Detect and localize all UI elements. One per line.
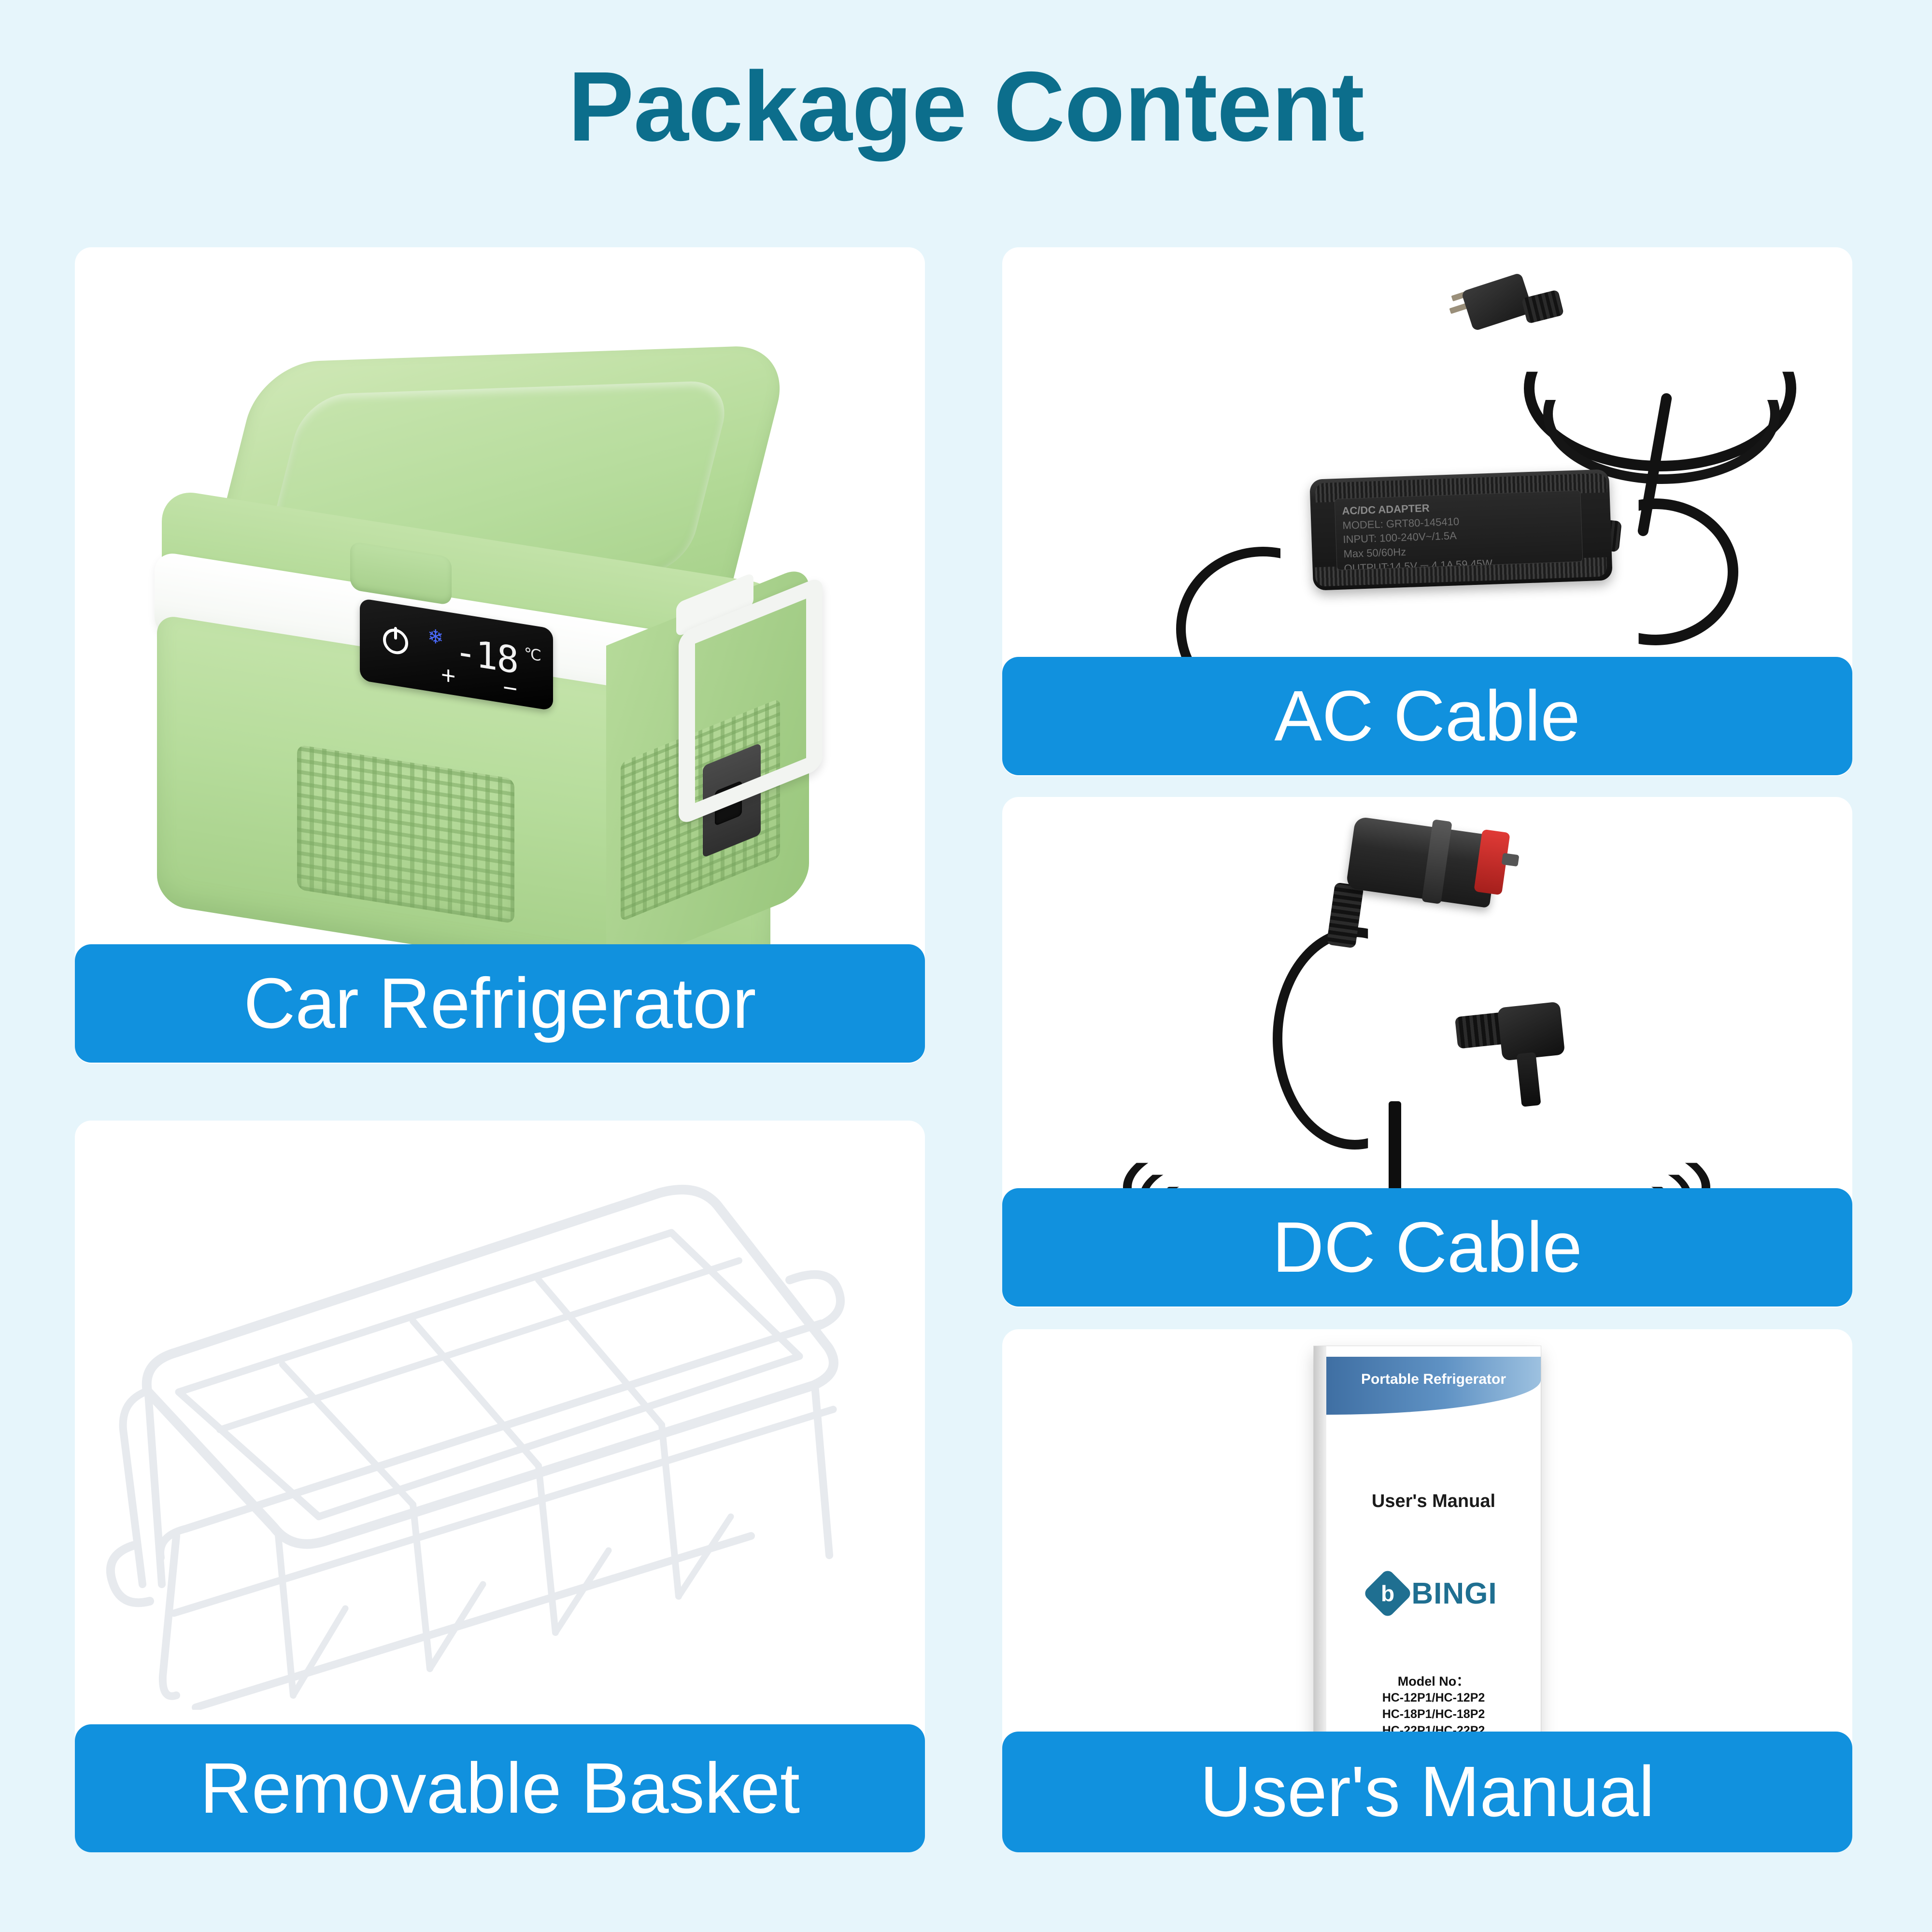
product-card-car-refrigerator: ❄ -18 ℃ + −	[75, 247, 925, 1064]
power-icon[interactable]	[383, 627, 408, 656]
label-dc-cable: DC Cable	[1002, 1188, 1852, 1307]
manual-header-text: Portable Refrigerator	[1326, 1371, 1541, 1388]
dc-device-plug	[1497, 1002, 1565, 1061]
car-refrigerator-illustration: ❄ -18 ℃ + −	[109, 267, 891, 1010]
label-car-refrigerator: Car Refrigerator	[75, 944, 925, 1063]
brand-diamond-icon: b	[1363, 1568, 1413, 1619]
dc-device-plug-tip	[1516, 1052, 1541, 1107]
model-line: HC-18P1/HC-18P2	[1326, 1706, 1541, 1723]
car-refrigerator-image: ❄ -18 ℃ + −	[75, 247, 925, 1064]
brand-logo: b BINGI	[1326, 1576, 1541, 1611]
wire-basket-svg	[75, 1121, 925, 1710]
manual-model-heading: Model No：	[1326, 1671, 1541, 1690]
ac-label-line-4: Max 50/60Hz	[1343, 546, 1406, 560]
manual-cover-title: User's Manual	[1326, 1491, 1541, 1512]
temp-increase-button[interactable]: +	[441, 662, 455, 690]
wire-basket-illustration	[75, 1121, 925, 1710]
ac-adapter-spec-label: AC/DC ADAPTER MODEL: GRT80-145410 INPUT:…	[1335, 490, 1583, 570]
temperature-unit: ℃	[524, 645, 541, 664]
snowflake-icon: ❄	[427, 626, 444, 648]
package-content-infographic: Package Content ❄	[0, 0, 1932, 1932]
label-removable-basket: Removable Basket	[75, 1724, 925, 1852]
ac-label-line-3: INPUT: 100-240V~/1.5A	[1343, 530, 1457, 546]
temperature-display: -18	[455, 632, 518, 679]
temp-decrease-button[interactable]: −	[503, 675, 517, 702]
label-ac-cable: AC Cable	[1002, 657, 1852, 775]
dc-plug-center-pin	[1501, 853, 1519, 867]
ac-label-line-1: AC/DC ADAPTER	[1342, 502, 1430, 517]
label-users-manual: User's Manual	[1002, 1732, 1852, 1852]
model-line: HC-12P1/HC-12P2	[1326, 1690, 1541, 1706]
dc-lead-cord	[1273, 927, 1437, 1150]
ac-label-line-2: MODEL: GRT80-145410	[1342, 515, 1459, 531]
brand-mark-letter: b	[1381, 1582, 1394, 1605]
brand-wordmark: BINGI	[1411, 1577, 1497, 1611]
page-title: Package Content	[0, 57, 1932, 156]
